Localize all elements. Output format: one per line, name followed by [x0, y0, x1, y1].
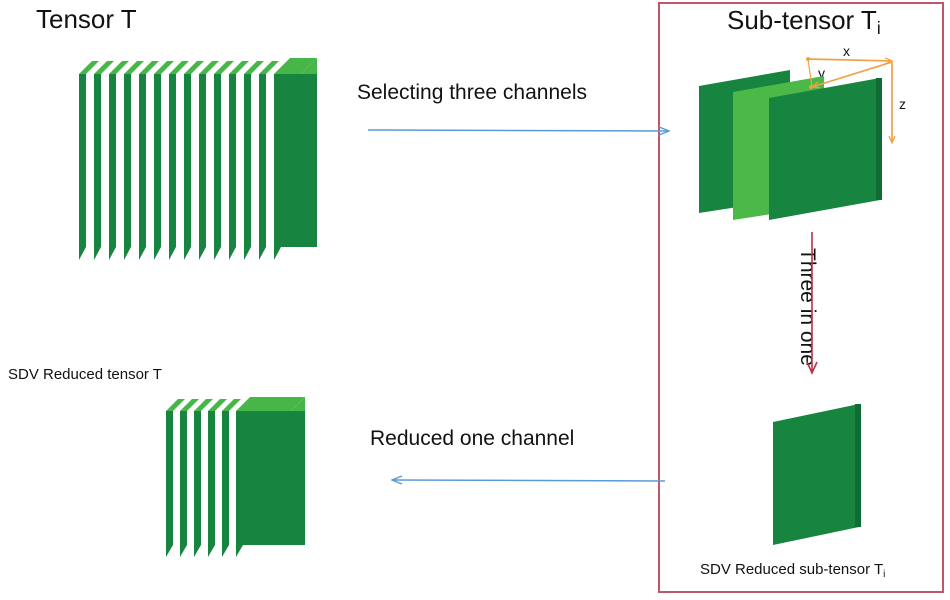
tensor-slab	[259, 61, 279, 260]
tensor-slab	[244, 61, 264, 260]
arrow-reduced-one-channel	[393, 480, 665, 481]
tensor-stack-large	[79, 58, 317, 260]
subtensor-title-text: Sub-tensor T	[727, 5, 877, 35]
tensor-slab	[184, 61, 204, 260]
reduced-slab	[208, 399, 227, 557]
tensor-slab	[169, 61, 189, 260]
tensor-slab	[124, 61, 144, 260]
arrow-label-three-in-one: Three in one	[795, 248, 819, 366]
reduced-slab	[222, 399, 241, 557]
tensor-slab	[229, 61, 249, 260]
axis-label-z: z	[899, 97, 906, 112]
subtensor-caption-subscript: i	[883, 569, 885, 580]
subtensor-caption-text: SDV Reduced sub-tensor T	[700, 561, 883, 578]
reduced-slab	[180, 399, 199, 557]
tensor-slab	[214, 61, 234, 260]
tensor-slab	[139, 61, 159, 260]
page-title-tensor: Tensor T	[36, 6, 137, 33]
axis-label-y: y	[818, 66, 825, 81]
subtensor-caption: SDV Reduced sub-tensor Ti	[700, 562, 885, 580]
tensor-stack-reduced	[166, 397, 305, 557]
arrow-label-reduced-one-channel: Reduced one channel	[370, 428, 574, 450]
arrow-selecting-three-channels	[368, 130, 668, 131]
subtensor-title: Sub-tensor Ti	[727, 7, 881, 37]
axis-label-x: x	[843, 44, 850, 59]
diagram-canvas: Tensor T SDV Reduced tensor T Selecting …	[0, 0, 950, 600]
tensor-slab	[79, 61, 99, 260]
subtensor-title-subscript: i	[877, 18, 881, 38]
tensor-slab	[154, 61, 174, 260]
tensor-slab-front	[274, 58, 317, 260]
caption-reduced-tensor: SDV Reduced tensor T	[8, 367, 162, 383]
reduced-slab	[194, 399, 213, 557]
tensor-slab	[199, 61, 219, 260]
tensor-slab	[94, 61, 114, 260]
reduced-slab	[166, 399, 185, 557]
reduced-slab-front	[236, 397, 305, 557]
arrow-label-selecting-three-channels: Selecting three channels	[357, 82, 587, 104]
tensor-slab	[109, 61, 129, 260]
